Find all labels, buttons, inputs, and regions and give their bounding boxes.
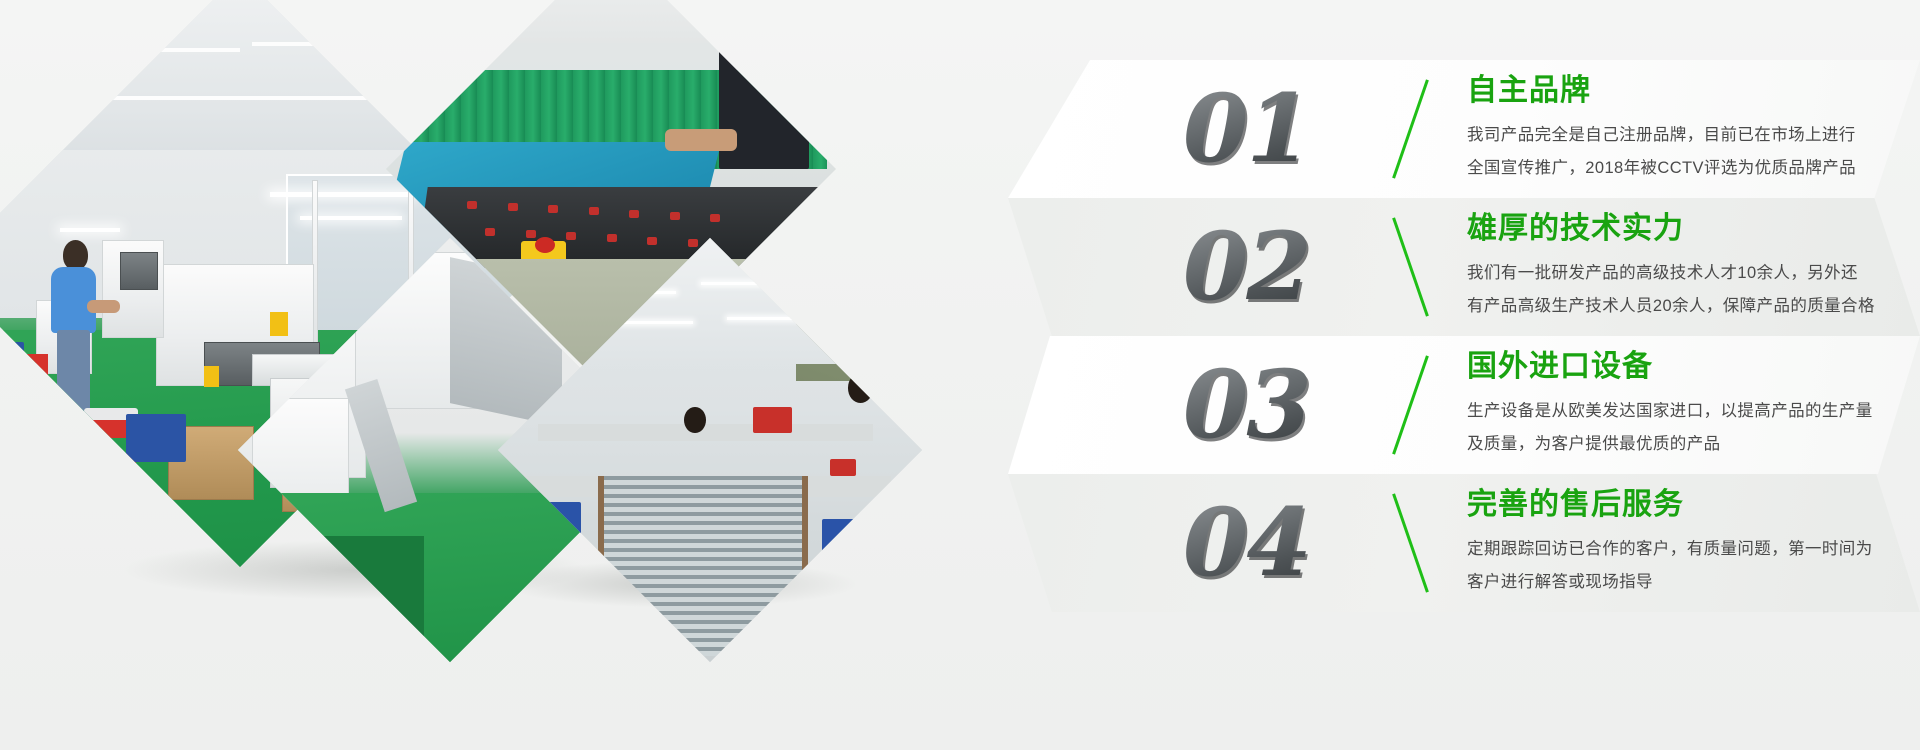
advantage-item-04[interactable]: 04 完善的售后服务 定期跟踪回访已合作的客户，有质量问题，第一时间为 客户进行… <box>1008 474 1920 612</box>
advantage-item-01[interactable]: 01 自主品牌 我司产品完全是自己注册品牌，目前已在市场上进行 全国宣传推广，2… <box>1008 60 1920 198</box>
advantage-line-02-2: 有产品高级生产技术人员20余人，保障产品的质量合格 <box>1467 290 1880 322</box>
advantage-number-04: 04 <box>1183 496 1381 590</box>
advantage-line-02-1: 我们有一批研发产品的高级技术人才10余人，另外还 <box>1467 257 1880 289</box>
advantage-title-01: 自主品牌 <box>1467 74 1880 107</box>
advantage-title-03: 国外进口设备 <box>1467 350 1880 383</box>
advantage-text-04: 完善的售后服务 定期跟踪回访已合作的客户，有质量问题，第一时间为 客户进行解答或… <box>1441 488 1920 597</box>
advantage-title-04: 完善的售后服务 <box>1467 488 1880 521</box>
advantage-item-02[interactable]: 02 雄厚的技术实力 我们有一批研发产品的高级技术人才10余人，另外还 有产品高… <box>1008 198 1920 336</box>
advantages-list: 01 自主品牌 我司产品完全是自己注册品牌，目前已在市场上进行 全国宣传推广，2… <box>0 0 1920 750</box>
advantage-text-01: 自主品牌 我司产品完全是自己注册品牌，目前已在市场上进行 全国宣传推广，2018… <box>1441 74 1920 183</box>
advantage-item-03[interactable]: 03 国外进口设备 生产设备是从欧美发达国家进口，以提高产品的生产量 及质量，为… <box>1008 336 1920 474</box>
slash-divider-icon <box>1381 489 1441 597</box>
advantage-title-02: 雄厚的技术实力 <box>1467 212 1880 245</box>
advantage-line-03-2: 及质量，为客户提供最优质的产品 <box>1467 428 1880 460</box>
banner-stage: 01 自主品牌 我司产品完全是自己注册品牌，目前已在市场上进行 全国宣传推广，2… <box>0 0 1920 750</box>
advantage-line-01-2: 全国宣传推广，2018年被CCTV评选为优质品牌产品 <box>1467 152 1880 184</box>
advantage-line-04-2: 客户进行解答或现场指导 <box>1467 566 1880 598</box>
advantage-text-03: 国外进口设备 生产设备是从欧美发达国家进口，以提高产品的生产量 及质量，为客户提… <box>1441 350 1920 459</box>
advantage-line-04-1: 定期跟踪回访已合作的客户，有质量问题，第一时间为 <box>1467 533 1880 565</box>
slash-divider-icon <box>1381 351 1441 459</box>
advantage-number-03: 03 <box>1183 358 1381 452</box>
advantage-line-01-1: 我司产品完全是自己注册品牌，目前已在市场上进行 <box>1467 119 1880 151</box>
advantage-number-02: 02 <box>1183 220 1381 314</box>
slash-divider-icon <box>1381 213 1441 321</box>
slash-divider-icon <box>1381 75 1441 183</box>
advantage-text-02: 雄厚的技术实力 我们有一批研发产品的高级技术人才10余人，另外还 有产品高级生产… <box>1441 212 1920 321</box>
advantage-number-01: 01 <box>1183 82 1381 176</box>
advantage-line-03-1: 生产设备是从欧美发达国家进口，以提高产品的生产量 <box>1467 395 1880 427</box>
